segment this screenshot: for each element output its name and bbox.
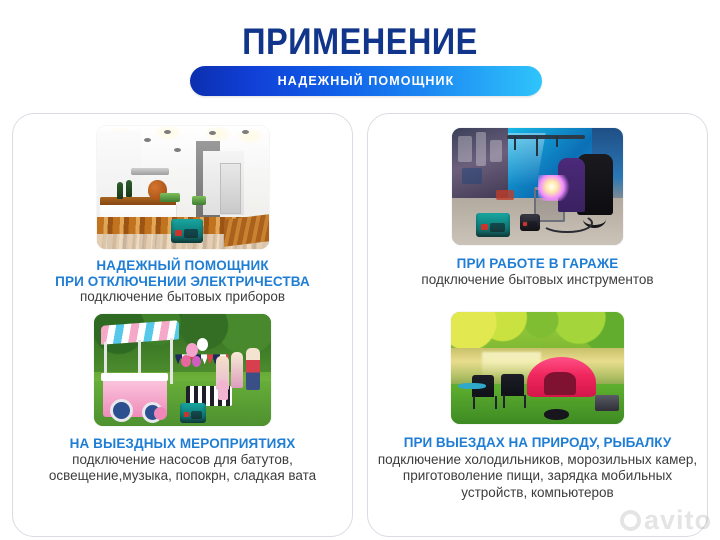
outdoor-party-photo [94, 314, 271, 426]
card-left: НАДЕЖНЫЙ ПОМОЩНИК ПРИ ОТКЛЮЧЕНИИ ЭЛЕКТРИ… [12, 113, 353, 537]
caption-heading-line1: ПРИ РАБОТЕ В ГАРАЖЕ [376, 256, 699, 272]
caption-heading-line2: ПРИ ОТКЛЮЧЕНИИ ЭЛЕКТРИЧЕСТВА [21, 274, 344, 290]
subtitle-badge: НАДЕЖНЫЙ ПОМОЩНИК [190, 66, 542, 96]
block-nature-fishing: ПРИ ВЫЕЗДАХ НА ПРИРОДУ, РЫБАЛКУ подключе… [368, 312, 707, 501]
caption-heading-line1: НАДЕЖНЫЙ ПОМОЩНИК [21, 258, 344, 274]
caption-outdoor-events: НА ВЫЕЗДНЫХ МЕРОПРИЯТИЯХ подключение нас… [13, 436, 352, 484]
caption-heading-inline: ПРИ ВЫЕЗДАХ НА ПРИРОДУ, РЫБАЛКУ [404, 435, 671, 450]
caption-power-outage: НАДЕЖНЫЙ ПОМОЩНИК ПРИ ОТКЛЮЧЕНИИ ЭЛЕКТРИ… [13, 258, 352, 305]
card-right: ПРИ РАБОТЕ В ГАРАЖЕ подключение бытовых … [367, 113, 708, 537]
page-title: ПРИМЕНЕНИЕ [43, 22, 677, 62]
block-garage-work: ПРИ РАБОТЕ В ГАРАЖЕ подключение бытовых … [368, 128, 707, 288]
block-outdoor-events: НА ВЫЕЗДНЫХ МЕРОПРИЯТИЯХ подключение нас… [13, 314, 352, 484]
block-power-outage: НАДЕЖНЫЙ ПОМОЩНИК ПРИ ОТКЛЮЧЕНИИ ЭЛЕКТРИ… [13, 126, 352, 305]
garage-welding-photo [452, 128, 623, 245]
caption-subtitle-inline: подключение холодильников, морозильных к… [378, 452, 697, 500]
caption-subtitle: подключение бытовых приборов [21, 289, 344, 305]
kitchen-with-generator-photo [97, 126, 269, 249]
caption-garage-work: ПРИ РАБОТЕ В ГАРАЖЕ подключение бытовых … [368, 256, 707, 288]
page-header: ПРИМЕНЕНИЕ НАДЕЖНЫЙ ПОМОЩНИК [0, 0, 720, 105]
subtitle-badge-label: НАДЕЖНЫЙ ПОМОЩНИК [278, 74, 455, 88]
caption-heading-line1: НА ВЫЕЗДНЫХ МЕРОПРИЯТИЯХ [21, 436, 344, 452]
caption-nature-fishing: ПРИ ВЫЕЗДАХ НА ПРИРОДУ, РЫБАЛКУ подключе… [368, 435, 707, 501]
promo-page: ПРИМЕНЕНИЕ НАДЕЖНЫЙ ПОМОЩНИК [0, 0, 720, 540]
caption-subtitle: подключение насосов для батутов, освещен… [21, 452, 344, 484]
caption-subtitle: подключение бытовых инструментов [376, 272, 699, 288]
lakeside-camping-photo [451, 312, 624, 424]
